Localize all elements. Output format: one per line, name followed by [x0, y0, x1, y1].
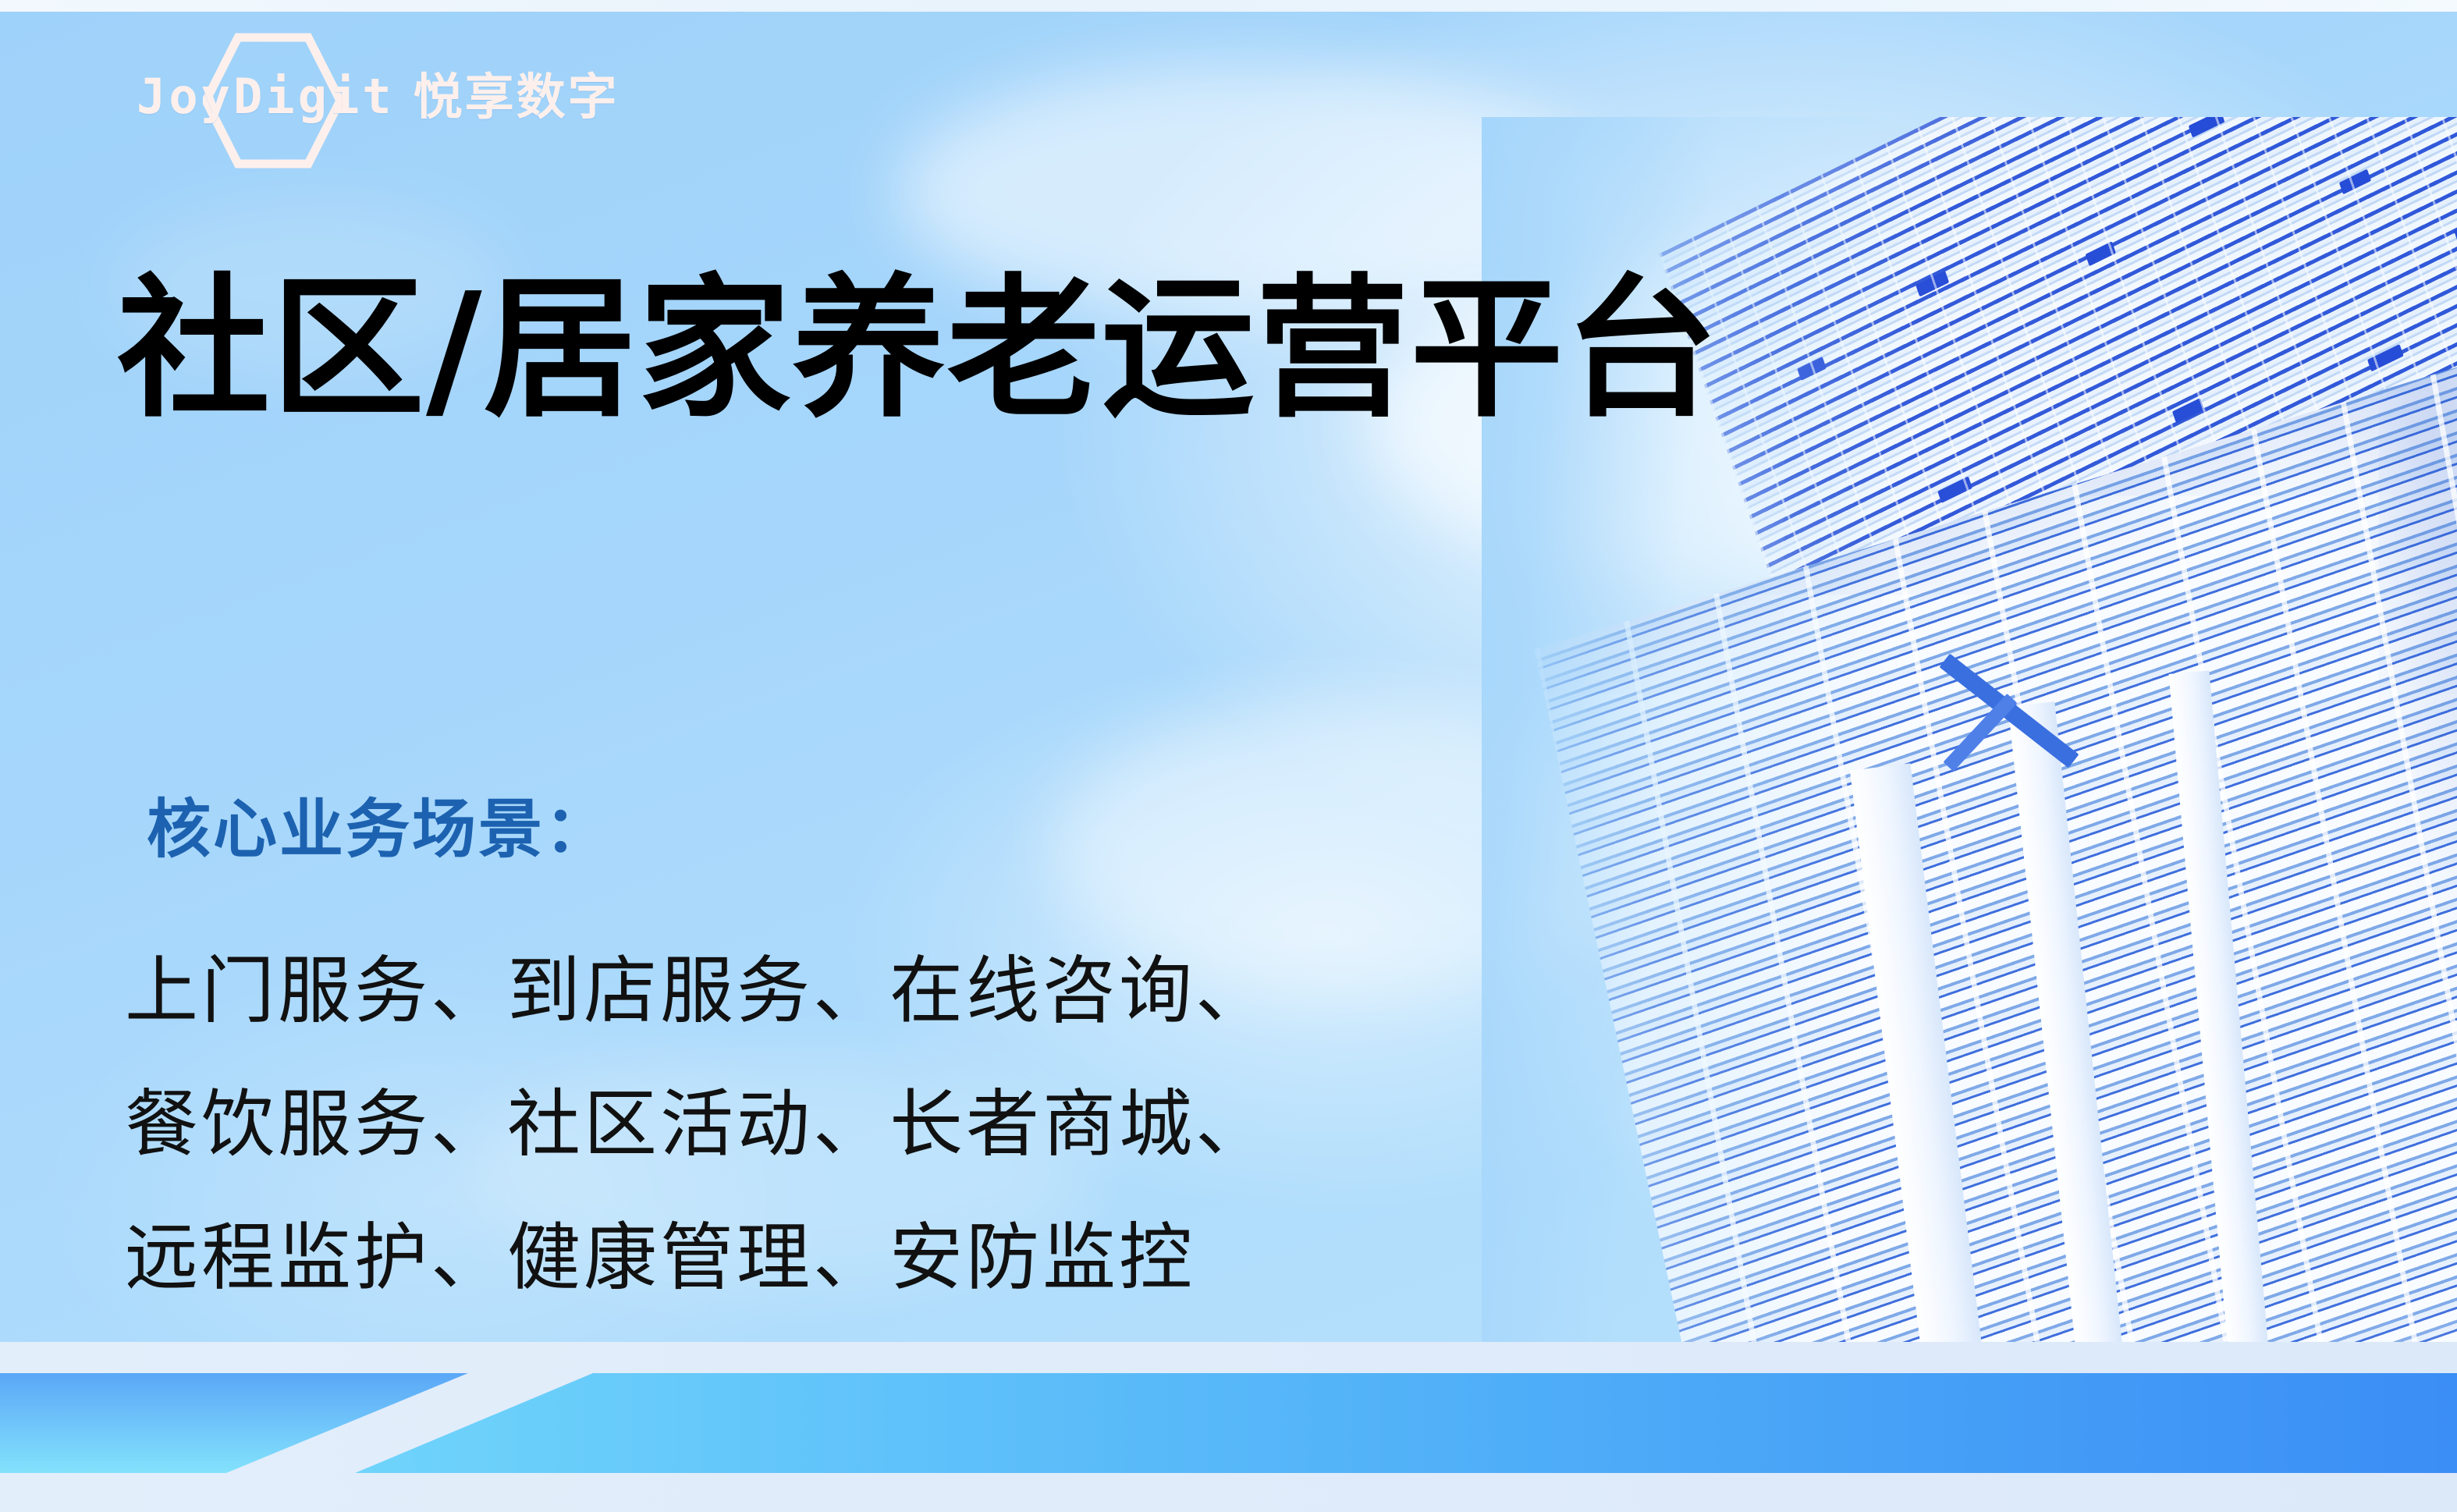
- scenario-line: 远程监护、健康管理、安防监控: [125, 1191, 1272, 1325]
- bottom-decoration-band: [0, 1342, 2457, 1512]
- foreground-tower: [1535, 353, 2457, 1397]
- slide-root: JoyDigit 悦享数字 社区/居家养老运营平台 核心业务场景： 上门服务、到…: [0, 0, 2457, 1512]
- scenario-line: 餐饮服务、社区活动、长者商城、: [125, 1058, 1272, 1191]
- page-title: 社区/居家养老运营平台: [117, 269, 1720, 431]
- section-heading: 核心业务场景：: [147, 777, 611, 870]
- wordmark-cn: 悦享数字: [414, 73, 620, 122]
- wordmark-en: JoyDigit: [137, 73, 395, 121]
- brand-logo[interactable]: JoyDigit 悦享数字: [137, 61, 620, 133]
- scenario-line: 上门服务、到店服务、在线咨询、: [125, 925, 1272, 1058]
- scenario-list: 上门服务、到店服务、在线咨询、 餐饮服务、社区活动、长者商城、 远程监护、健康管…: [125, 925, 1272, 1325]
- top-edge-strip: [0, 0, 2457, 12]
